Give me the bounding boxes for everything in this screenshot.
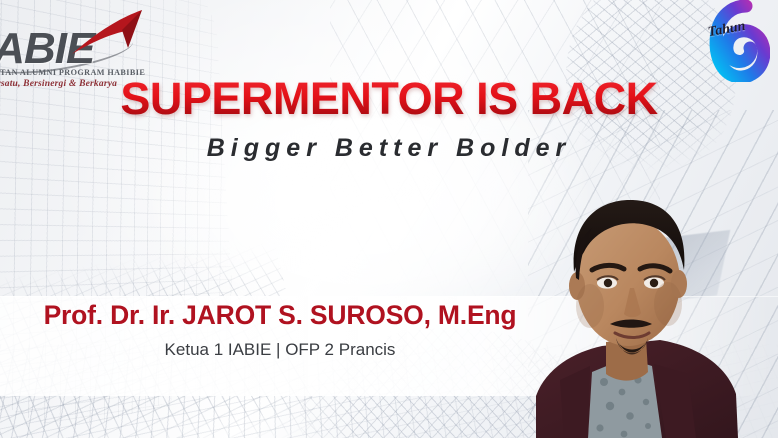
- poster-canvas: IABIE IKATAN ALUMNI PROGRAM HABIBIE Bers…: [0, 0, 778, 438]
- anniversary-badge: Tahun: [692, 0, 770, 82]
- speaker-portrait: [530, 166, 778, 438]
- logo-subtitle: IKATAN ALUMNI PROGRAM HABIBIE: [0, 68, 145, 77]
- logo-arrow-icon: [70, 8, 146, 56]
- speaker-name: Prof. Dr. Ir. JAROT S. SUROSO, M.Eng: [0, 300, 560, 331]
- logo-tagline: Bersatu, Bersinergi & Berkarya: [0, 79, 117, 89]
- iabie-logo: IABIE IKATAN ALUMNI PROGRAM HABIBIE Bers…: [0, 6, 158, 90]
- speaker-role: Ketua 1 IABIE | OFP 2 Prancis: [0, 340, 560, 360]
- page-subtitle: Bigger Better Bolder: [0, 134, 778, 163]
- speaker-info: Prof. Dr. Ir. JAROT S. SUROSO, M.Eng Ket…: [0, 300, 560, 360]
- page-title: SUPERMENTOR IS BACK: [120, 76, 657, 121]
